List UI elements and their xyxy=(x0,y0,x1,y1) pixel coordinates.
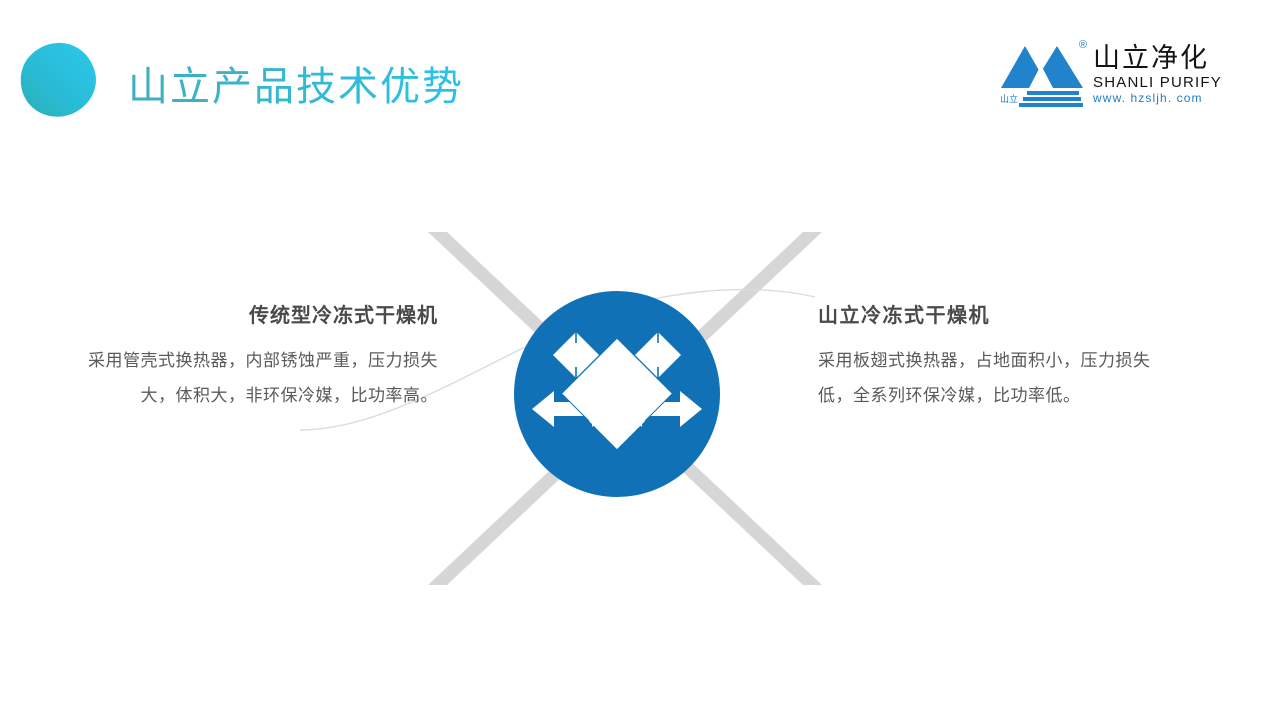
column-body-left: 采用管壳式换热器，内部锈蚀严重，压力损失大，体积大，非环保冷媒，比功率高。 xyxy=(86,344,438,414)
brand-name-en: SHANLI PURIFY xyxy=(1093,74,1222,91)
slide-canvas: 山立产品技术优势 ® 山立 山立净化 SHANLI PURIFY www. hz… xyxy=(0,0,1280,720)
brand-logo: ® 山立 山立净化 SHANLI PURIFY www. hzsljh. com xyxy=(999,38,1222,112)
brand-name-cn: 山立净化 xyxy=(1093,44,1209,74)
column-heading-right: 山立冷冻式干燥机 xyxy=(818,300,1170,330)
brand-wordmark: 山立净化 SHANLI PURIFY www. hzsljh. com xyxy=(1093,38,1222,106)
registered-mark-icon: ® xyxy=(1079,40,1087,51)
page-title: 山立产品技术优势 xyxy=(128,58,464,116)
comparison-column-shanli: 山立冷冻式干燥机 采用板翅式换热器，占地面积小，压力损失低，全系列环保冷媒，比功… xyxy=(818,300,1170,414)
expand-diamond-arrows-icon xyxy=(514,291,720,497)
column-heading-left: 传统型冷冻式干燥机 xyxy=(86,300,438,330)
brand-website: www. hzsljh. com xyxy=(1093,91,1203,106)
logo-mark-label: 山立 xyxy=(1000,95,1018,104)
comparison-column-traditional: 传统型冷冻式干燥机 采用管壳式换热器，内部锈蚀严重，压力损失大，体积大，非环保冷… xyxy=(86,300,438,414)
mountain-logo-icon: ® 山立 xyxy=(999,38,1085,112)
decorative-blob-icon xyxy=(18,42,98,118)
column-body-right: 采用板翅式换热器，占地面积小，压力损失低，全系列环保冷媒，比功率低。 xyxy=(818,344,1170,414)
